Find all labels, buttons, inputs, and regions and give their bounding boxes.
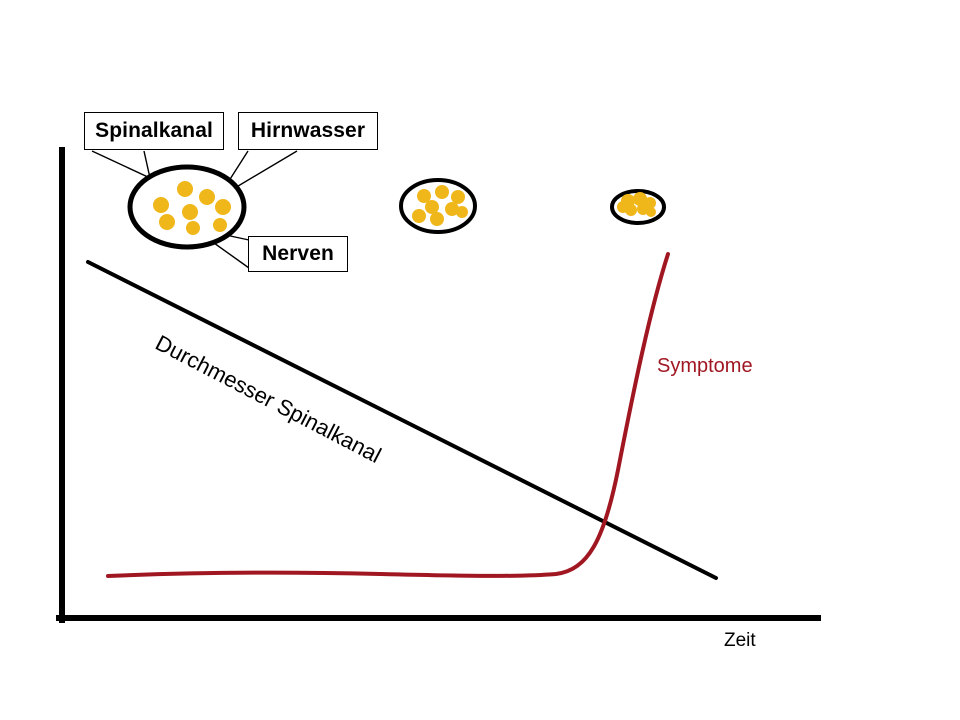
symptom-curve-label: Symptome (657, 355, 753, 378)
nerve-dot (617, 201, 629, 213)
nerve-dot (430, 212, 444, 226)
callout-hirnwasser[interactable]: Hirnwasser (238, 112, 378, 150)
diagram-svg (0, 0, 960, 720)
leader-spinalkanal-a (92, 151, 150, 178)
trend-line-spinal-diameter (88, 262, 716, 578)
cross-section-narrowed (401, 180, 475, 232)
nerve-dot (177, 181, 193, 197)
nerve-dot (186, 221, 200, 235)
nerve-dot (456, 206, 468, 218)
cross-section-normal (130, 167, 244, 247)
callout-nerven[interactable]: Nerven (248, 236, 348, 272)
nerve-dot (451, 190, 465, 204)
callout-nerven-label: Nerven (262, 242, 334, 266)
nerve-dot (215, 199, 231, 215)
callout-spinalkanal[interactable]: Spinalkanal (84, 112, 224, 150)
nerve-dot (412, 209, 426, 223)
nerve-dot (646, 207, 656, 217)
nerve-dot (153, 197, 169, 213)
nerve-dot (213, 218, 227, 232)
nerve-dot (159, 214, 175, 230)
nerve-dot (182, 204, 198, 220)
nerve-dot (199, 189, 215, 205)
x-axis-label: Zeit (724, 630, 756, 652)
cross-section-stenotic (612, 191, 664, 223)
nerve-dot (435, 185, 449, 199)
nerve-dot (425, 200, 439, 214)
callout-spinalkanal-label: Spinalkanal (95, 119, 213, 143)
diagram-canvas: Spinalkanal Hirnwasser Nerven Durchmesse… (0, 0, 960, 720)
callout-hirnwasser-label: Hirnwasser (251, 119, 365, 143)
leader-spinalkanal-b (144, 151, 150, 178)
